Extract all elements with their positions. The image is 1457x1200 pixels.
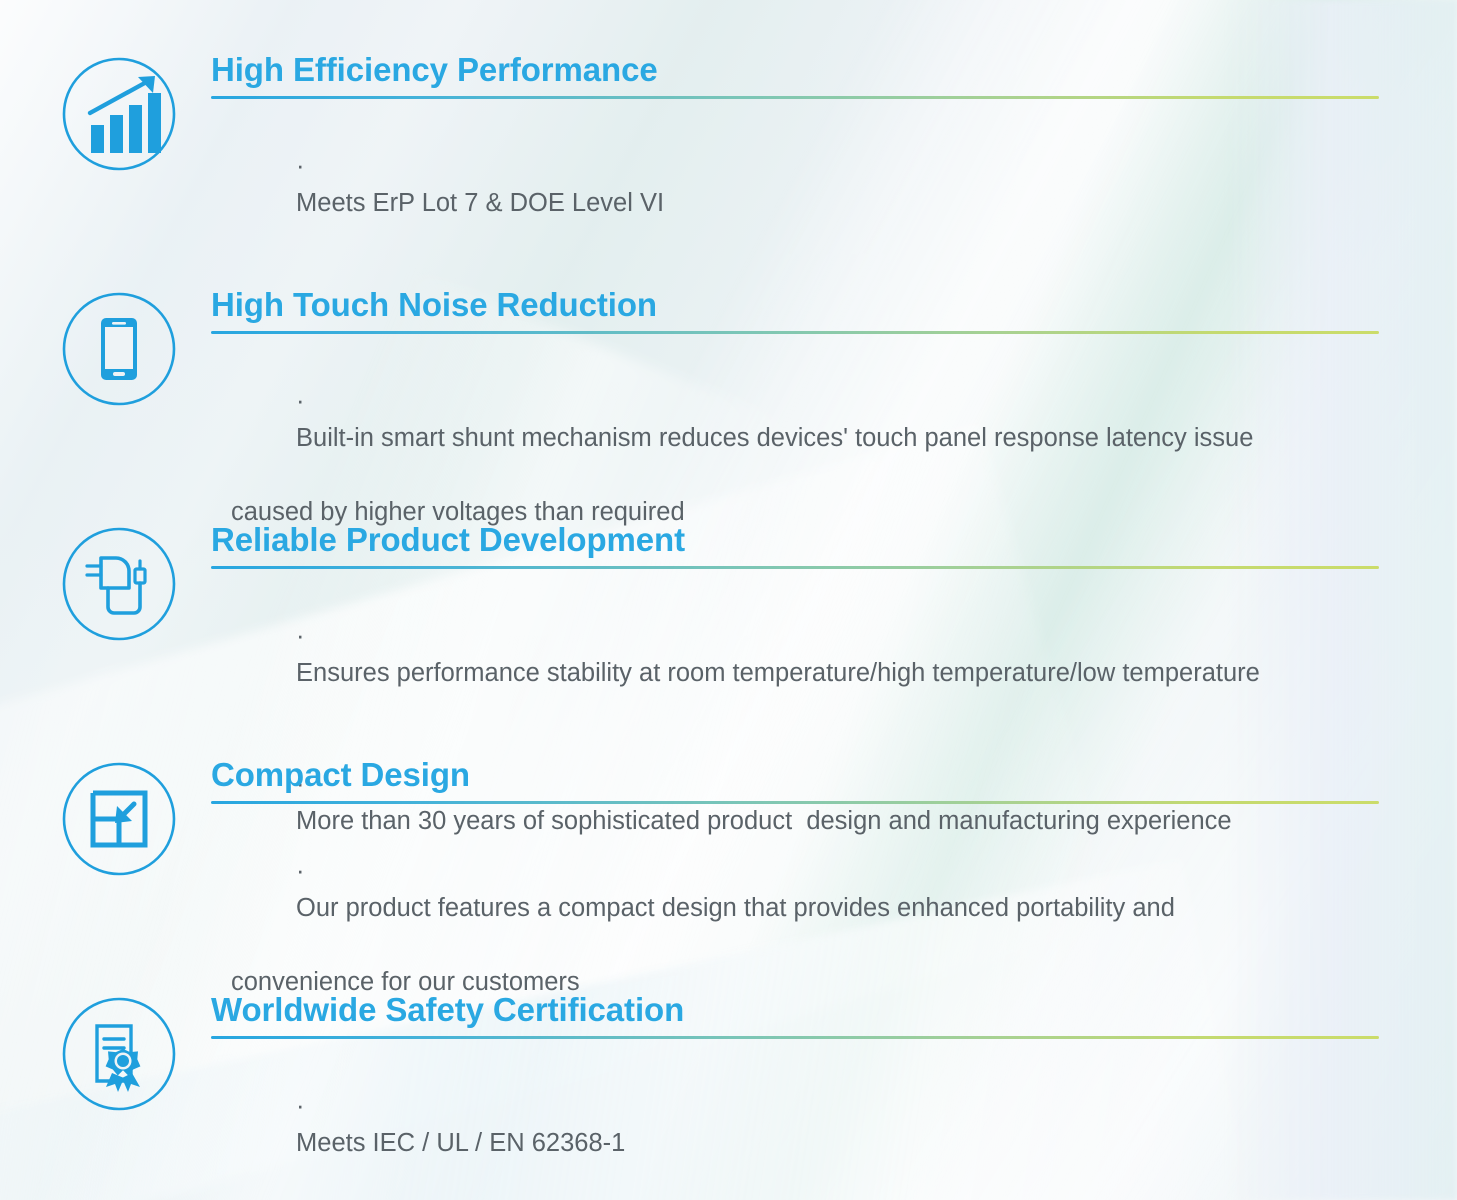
bullet-text: Meets ErP Lot 7 & DOE Level VI bbox=[296, 189, 664, 217]
feature-title: Compact Design bbox=[211, 755, 1381, 795]
bullet-text: Built-in smart shunt mechanism reduces d… bbox=[296, 424, 1253, 452]
bar-chart-growth-icon bbox=[60, 55, 178, 173]
bullet-marker: · bbox=[296, 622, 305, 650]
power-adapter-icon bbox=[60, 525, 178, 643]
list-item: · Meets ErP Lot 7 & DOE Level VI bbox=[211, 111, 1381, 259]
feature-body: Worldwide Safety Certification · Meets I… bbox=[211, 990, 1381, 1199]
list-item: · Meets IEC / UL / EN 62368-1 bbox=[211, 1051, 1381, 1199]
bullet-marker: · bbox=[296, 857, 305, 885]
feature-divider bbox=[211, 566, 1379, 569]
feature-highlights-page: High Efficiency Performance · Meets ErP … bbox=[0, 0, 1457, 1200]
feature-divider bbox=[211, 96, 1379, 99]
feature-bullets: · Meets ErP Lot 7 & DOE Level VI bbox=[211, 111, 1381, 259]
feature-divider bbox=[211, 331, 1379, 334]
bullet-marker: · bbox=[296, 1092, 305, 1120]
feature-divider bbox=[211, 801, 1379, 804]
compact-resize-icon bbox=[60, 760, 178, 878]
feature-title: Worldwide Safety Certification bbox=[211, 990, 1381, 1030]
bullet-text: Meets IEC / UL / EN 62368-1 bbox=[296, 1129, 625, 1157]
feature-title: High Touch Noise Reduction bbox=[211, 285, 1381, 325]
feature-title: High Efficiency Performance bbox=[211, 50, 1381, 90]
certificate-award-icon bbox=[60, 995, 178, 1113]
smartphone-icon bbox=[60, 290, 178, 408]
feature-bullets: · Meets IEC / UL / EN 62368-1 bbox=[211, 1051, 1381, 1199]
feature-divider bbox=[211, 1036, 1379, 1039]
list-item: · Ensures performance stability at room … bbox=[211, 581, 1381, 729]
bullet-text: Ensures performance stability at room te… bbox=[296, 659, 1260, 687]
bullet-marker: · bbox=[296, 152, 305, 180]
feature-title: Reliable Product Development bbox=[211, 520, 1381, 560]
bullet-marker: · bbox=[296, 387, 305, 415]
feature-body: High Efficiency Performance · Meets ErP … bbox=[211, 50, 1381, 259]
bullet-text: Our product features a compact design th… bbox=[296, 894, 1175, 922]
